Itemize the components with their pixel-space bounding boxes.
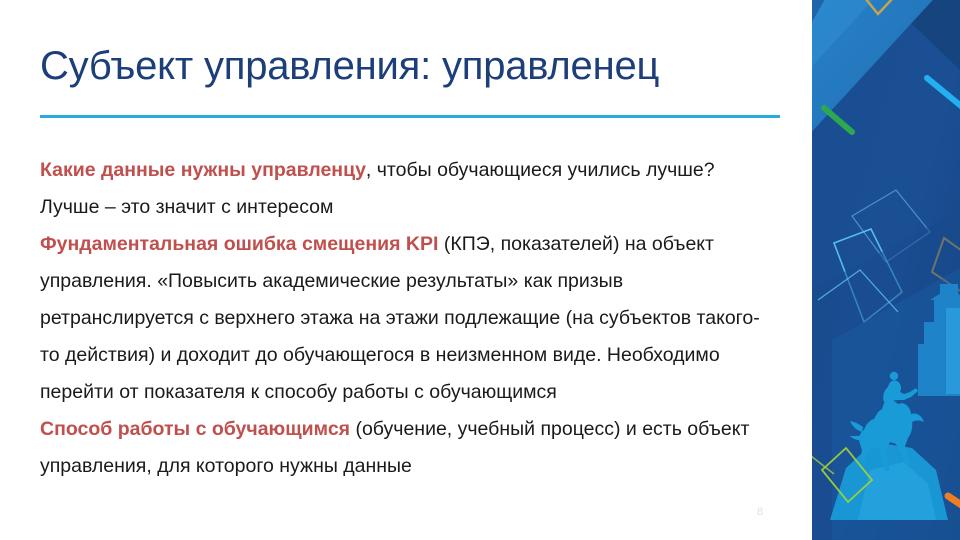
- title-area: Субъект управления: управленец: [40, 44, 780, 89]
- paragraph-2: Фундаментальная ошибка смещения KPI (КПЭ…: [40, 226, 775, 411]
- paragraph-1-lead: Какие данные нужны управленцу: [40, 159, 366, 181]
- body-text-area: Какие данные нужны управленцу, чтобы обу…: [40, 152, 775, 485]
- paragraph-3: Способ работы с обучающимся (обучение, у…: [40, 411, 775, 485]
- page-title: Субъект управления: управленец: [40, 44, 780, 89]
- building-silhouette-highlight: [946, 308, 960, 394]
- paragraph-2-rest: (КПЭ, показателей) на объект управления.…: [40, 233, 760, 403]
- page-number: 8: [757, 506, 763, 518]
- paragraph-3-lead: Способ работы с обучающимся: [40, 418, 350, 440]
- title-divider: [40, 115, 780, 118]
- decorative-graphic: [812, 0, 960, 540]
- paragraph-2-lead: Фундаментальная ошибка смещения KPI: [40, 233, 438, 255]
- slide: Субъект управления: управленец Какие дан…: [0, 0, 960, 540]
- decorative-side-panel: [812, 0, 960, 540]
- paragraph-1: Какие данные нужны управленцу, чтобы обу…: [40, 152, 775, 226]
